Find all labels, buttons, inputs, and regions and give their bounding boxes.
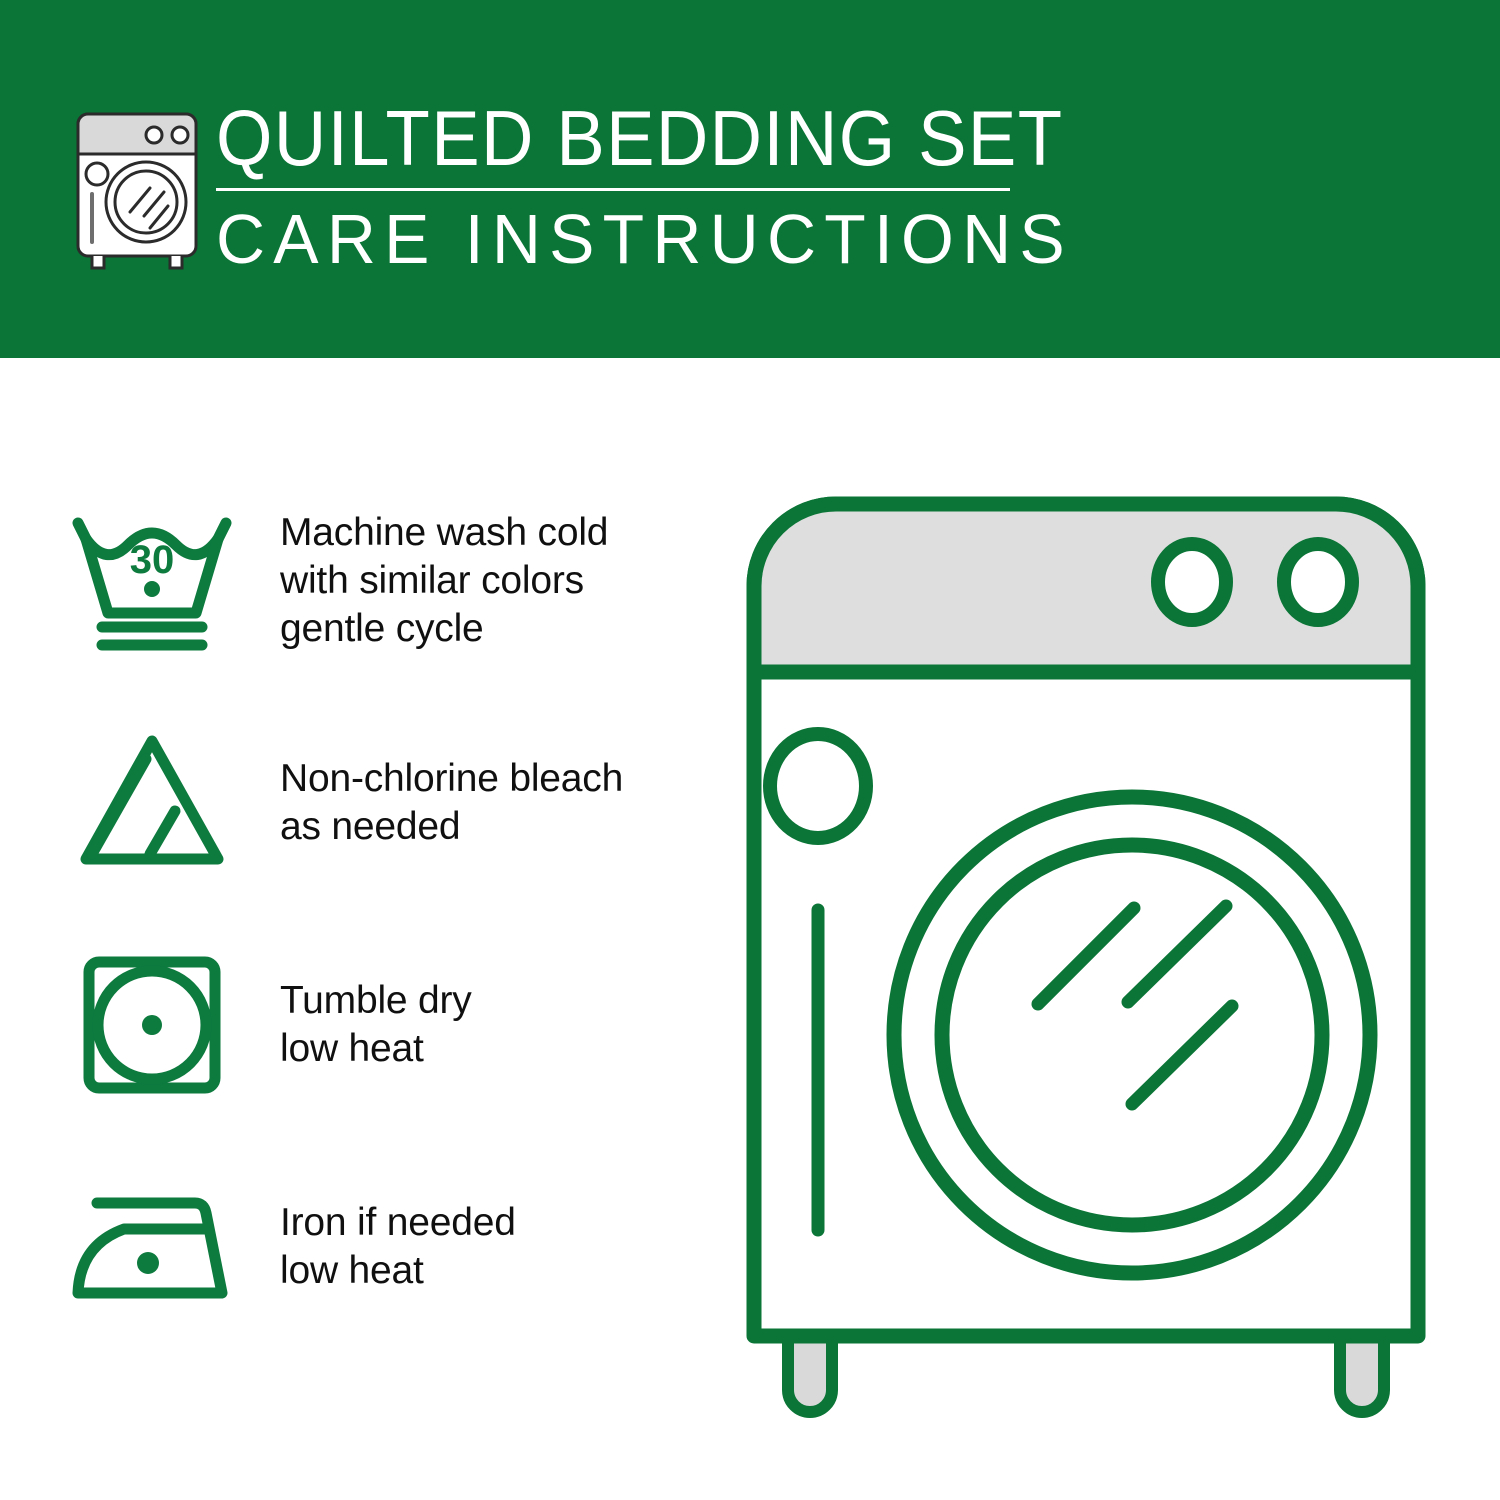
instruction-text: Non-chlorine bleach as needed bbox=[280, 755, 623, 851]
front-load-washing-machine-illustration bbox=[740, 490, 1460, 1440]
instruction-row: Non-chlorine bleach as needed bbox=[0, 692, 720, 914]
instruction-text: Machine wash cold with similar colors ge… bbox=[280, 509, 608, 653]
header-text-block: QUILTED BEDDING SET CARE INSTRUCTIONS bbox=[216, 96, 1016, 277]
instruction-row: 30 Machine wash cold with similar colors… bbox=[0, 470, 720, 692]
page-subtitle: CARE INSTRUCTIONS bbox=[216, 201, 992, 277]
wash-temperature-label: 30 bbox=[130, 538, 175, 582]
non-chlorine-bleach-triangle-icon bbox=[62, 713, 242, 893]
title-divider bbox=[216, 188, 1010, 191]
wash-tub-30-gentle-icon: 30 bbox=[62, 491, 242, 671]
instruction-list: 30 Machine wash cold with similar colors… bbox=[0, 470, 720, 1358]
page-title: QUILTED BEDDING SET bbox=[216, 96, 960, 180]
tumble-dry-low-icon bbox=[62, 935, 242, 1115]
instruction-row: Tumble dry low heat bbox=[0, 914, 720, 1136]
instruction-text: Tumble dry low heat bbox=[280, 977, 472, 1073]
instruction-text: Iron if needed low heat bbox=[280, 1199, 516, 1295]
iron-low-heat-icon bbox=[62, 1157, 242, 1337]
care-instructions-page: QUILTED BEDDING SET CARE INSTRUCTIONS 30 bbox=[0, 0, 1500, 1500]
instruction-row: Iron if needed low heat bbox=[0, 1136, 720, 1358]
washing-machine-icon bbox=[62, 104, 212, 276]
header-banner: QUILTED BEDDING SET CARE INSTRUCTIONS bbox=[0, 0, 1500, 358]
